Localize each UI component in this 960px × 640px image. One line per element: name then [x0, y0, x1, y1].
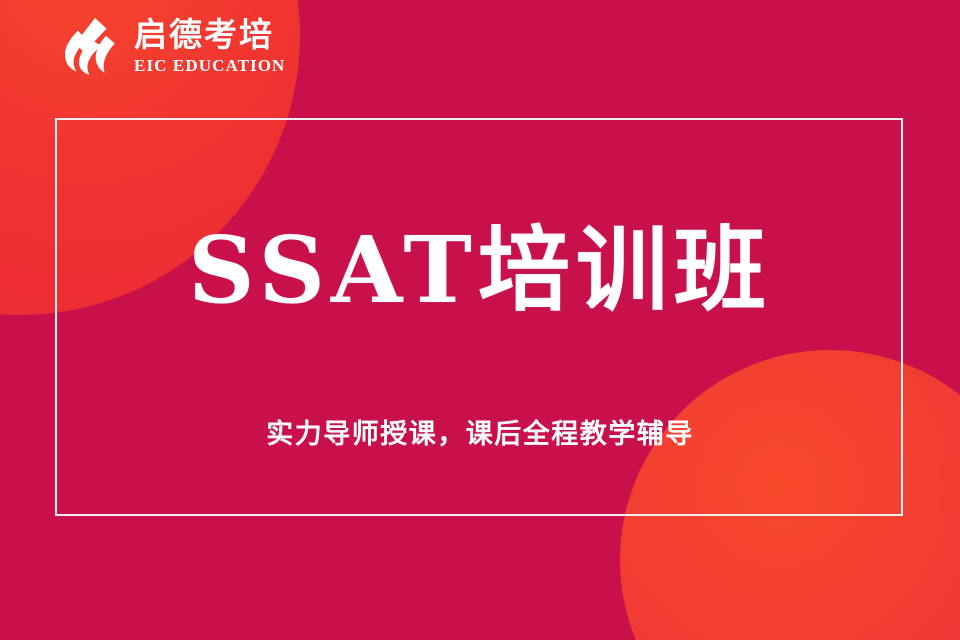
brand-name-en: EIC EDUCATION	[134, 57, 285, 74]
promo-banner: 启德考培 EIC EDUCATION SSAT培训班 实力导师授课，课后全程教学…	[0, 0, 960, 640]
brand-logo-lockup: 启德考培 EIC EDUCATION	[56, 14, 285, 78]
subtitle-text: 实力导师授课，课后全程教学辅导	[0, 412, 960, 451]
decorative-circle-bottom-right	[620, 350, 960, 640]
eic-flame-mark-icon	[56, 14, 120, 78]
brand-name-cn: 启德考培	[134, 18, 285, 51]
headline-title: SSAT培训班	[0, 222, 960, 319]
brand-text-block: 启德考培 EIC EDUCATION	[134, 18, 285, 74]
